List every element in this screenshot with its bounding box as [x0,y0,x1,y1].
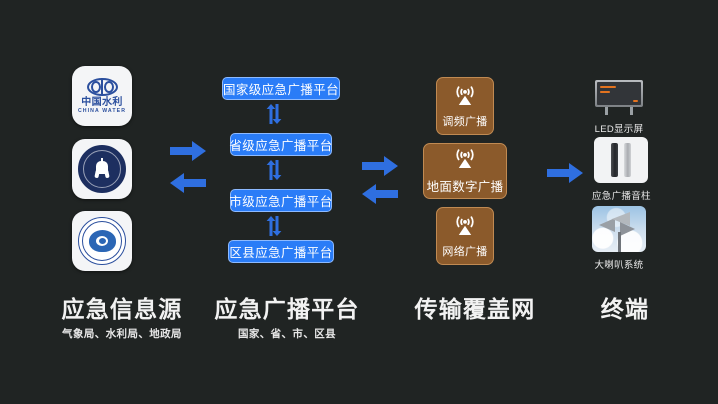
source-logo-china-meteorological-administration[interactable] [72,211,132,271]
led-display-icon [592,70,646,116]
platform-link-arrows-3 [266,216,282,236]
section-title: 终端 [570,296,680,322]
transmission-box-fm-broadcast[interactable]: 调频广播 [436,77,494,135]
platform-box-municipal[interactable]: 市级应急广播平台 [230,189,332,212]
china-earthquake-logo [72,139,132,199]
china-water-cn-label: 中国水利 [81,97,123,108]
water-emblem-icon [87,78,118,96]
section-subtitle: 气象局、水利局、地政局 [32,326,212,341]
terminal-label-speaker-column: 应急广播音柱 [592,188,651,202]
meteorological-seal-icon [78,217,126,265]
section-title: 传输覆盖网 [385,296,565,322]
arrow-transmission-to-terminal-right [545,162,585,184]
china-water-en-label: CHINA WATER [78,108,126,115]
source-logo-china-water[interactable]: 中国水利 CHINA WATER [72,66,132,126]
antenna-broadcast-icon [451,84,479,111]
section-heading-terminal: 终端 [570,296,680,322]
terminal-item-speaker-column[interactable]: 应急广播音柱 [592,137,651,202]
antenna-broadcast-icon [451,214,479,241]
source-logo-china-earthquake-administration[interactable] [72,139,132,199]
diagram-canvas: 中国水利 CHINA WATER [0,0,718,404]
horn-speaker-icon [592,206,646,252]
arrow-source-to-platform-right [168,140,208,162]
section-heading-emergency-broadcast-platform: 应急广播平台 国家、省、市、区县 [192,296,382,341]
platform-box-national[interactable]: 国家级应急广播平台 [222,77,340,100]
arrow-transmission-to-platform-left [360,183,400,205]
terminal-label-horn-speaker: 大喇叭系统 [594,257,643,271]
platform-box-district-county[interactable]: 区县应急广播平台 [228,240,334,263]
terminal-item-led-display[interactable]: LED显示屏 [592,70,646,135]
section-title: 应急广播平台 [192,296,382,322]
speaker-column-icon [594,137,648,183]
transmission-box-internet-broadcast[interactable]: 网络广播 [436,207,494,265]
transmission-label-fm: 调频广播 [442,113,487,129]
platform-link-arrows-1 [266,104,282,124]
china-meteorological-logo [72,211,132,271]
antenna-broadcast-icon [451,147,479,174]
platform-link-arrows-2 [266,160,282,180]
earthquake-seal-icon [78,145,126,193]
transmission-box-terrestrial-digital[interactable]: 地面数字广播 [423,143,507,199]
terminal-item-horn-speaker[interactable]: 大喇叭系统 [592,206,646,271]
arrow-platform-to-transmission-right [360,155,400,177]
arrow-platform-to-source-left [168,172,208,194]
section-subtitle: 国家、省、市、区县 [192,326,382,341]
platform-box-provincial[interactable]: 省级应急广播平台 [230,133,332,156]
transmission-label-terrestrial-digital: 地面数字广播 [427,176,504,195]
transmission-label-internet: 网络广播 [442,243,487,259]
section-heading-transmission-coverage-network: 传输覆盖网 [385,296,565,322]
terminal-label-led-display: LED显示屏 [595,121,644,135]
china-water-logo: 中国水利 CHINA WATER [72,66,132,126]
section-heading-emergency-info-source: 应急信息源 气象局、水利局、地政局 [32,296,212,341]
section-title: 应急信息源 [32,296,212,322]
